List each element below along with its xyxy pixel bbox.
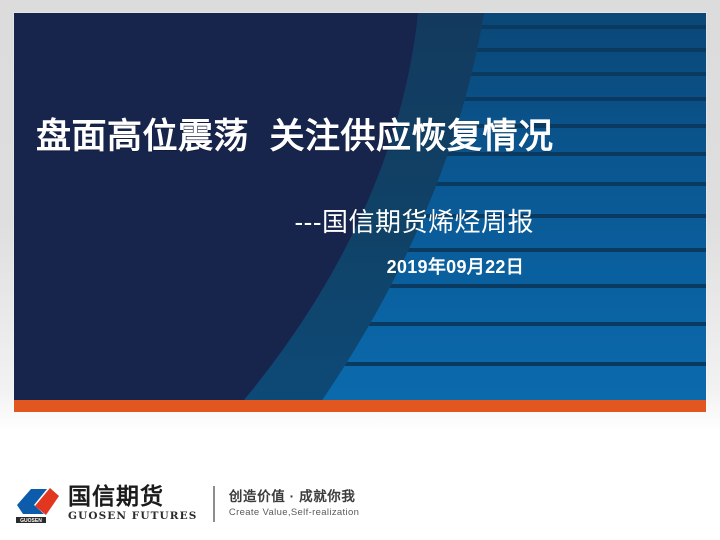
tagline-cn: 创造价值 · 成就你我 bbox=[229, 489, 359, 506]
logo-name-en: GUOSEN FUTURES bbox=[68, 510, 197, 523]
accent-bar bbox=[14, 400, 706, 412]
logo-badge-text: GUOSEN bbox=[20, 518, 42, 524]
logo-name-cn: 国信期货 bbox=[68, 485, 197, 509]
decorative-curve-stripes-graphic bbox=[14, 13, 706, 412]
guosen-logo-icon: GUOSEN bbox=[14, 484, 62, 524]
footer-divider bbox=[213, 486, 215, 522]
logo-wordmark: 国信期货 GUOSEN FUTURES bbox=[68, 485, 197, 522]
hero-panel: 盘面高位震荡 关注供应恢复情况 ---国信期货烯烃周报 2019年09月22日 bbox=[14, 13, 706, 412]
tagline-en: Create Value,Self-realization bbox=[229, 507, 359, 519]
footer-branding: GUOSEN 国信期货 GUOSEN FUTURES 创造价值 · 成就你我 C… bbox=[14, 478, 354, 530]
company-tagline: 创造价值 · 成就你我 Create Value,Self-realizatio… bbox=[229, 489, 359, 519]
title-slide: 盘面高位震荡 关注供应恢复情况 ---国信期货烯烃周报 2019年09月22日 … bbox=[0, 0, 720, 540]
guosen-diamond-mark: GUOSEN bbox=[14, 484, 62, 524]
